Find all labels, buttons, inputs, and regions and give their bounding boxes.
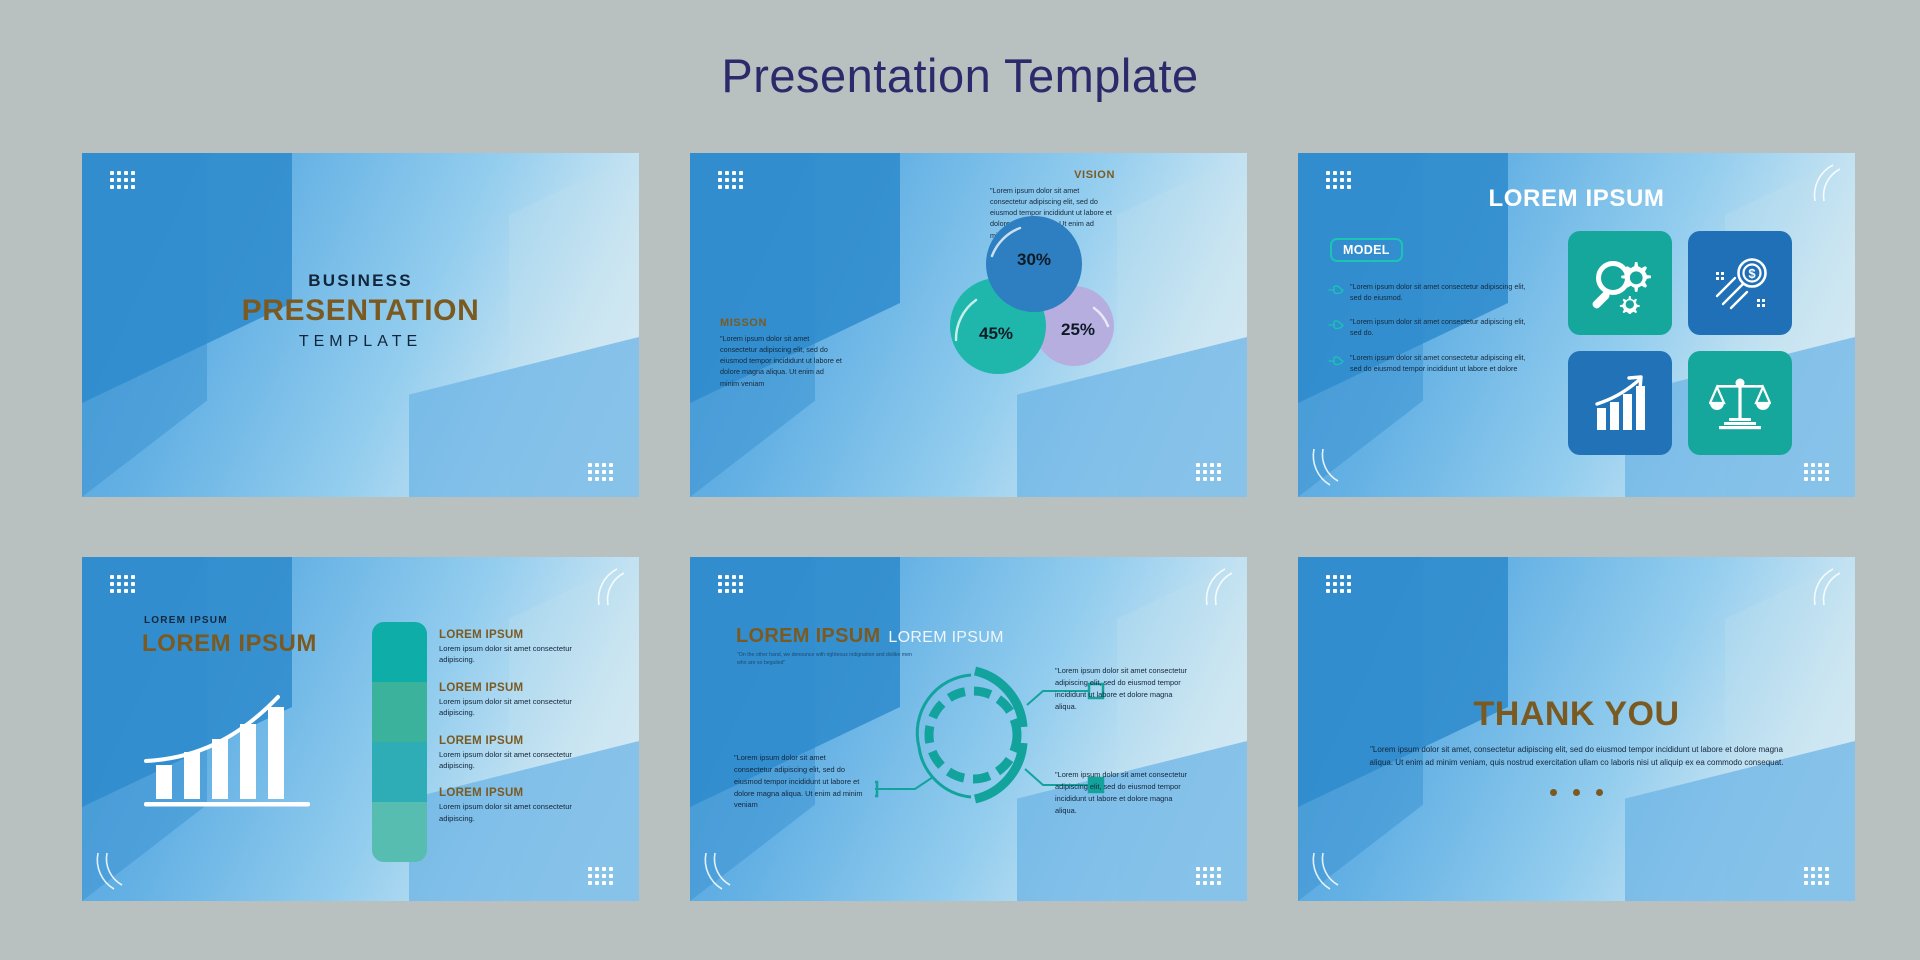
slide-heading: THANK YOU (1298, 695, 1855, 734)
list-item-heading: LOREM IPSUM (439, 787, 609, 799)
feature-rows: LOREM IPSUM Lorem ipsum dolor sit amet c… (439, 629, 609, 840)
slide-title-line2: PRESENTATION (82, 294, 639, 328)
tile-money-comet[interactable]: $ (1688, 231, 1792, 335)
list-item-text: "Lorem ipsum dolor sit amet consectetur … (1350, 352, 1528, 374)
pointing-hand-icon (1328, 318, 1344, 338)
slides-grid: BUSINESS PRESENTATION TEMPLATE VISION "L… (82, 153, 1858, 901)
icon-tile-grid: $ (1568, 231, 1792, 455)
ellipsis-dots (1298, 789, 1855, 796)
vision-heading: VISION (990, 169, 1115, 181)
tile-growth-chart[interactable] (1568, 351, 1672, 455)
slide-growth[interactable]: LOREM IPSUM LOREM IPSUM (82, 557, 639, 901)
dot-grid-icon (1326, 575, 1351, 593)
slide-model[interactable]: LOREM IPSUM MODEL "Lorem ipsum dolor sit… (1298, 153, 1855, 497)
venn-diagram: 25% 45% 30% (942, 216, 1122, 396)
page-title: Presentation Template (0, 48, 1920, 103)
callout-text: "Lorem ipsum dolor sit amet consectetur … (1055, 769, 1195, 816)
pointing-hand-icon (1328, 354, 1344, 374)
slide-heading-bold: LOREM IPSUM (736, 625, 880, 648)
dot-grid-icon (1196, 463, 1221, 481)
dot-grid-icon (588, 463, 613, 481)
slide-body: "Lorem ipsum dolor sit amet, consectetur… (1368, 743, 1785, 769)
slide-heading-row: LOREM IPSUM LOREM IPSUM (736, 625, 1004, 648)
slide-ring-diagram[interactable]: LOREM IPSUM LOREM IPSUM "On the other ha… (690, 557, 1247, 901)
growth-bar-chart-icon (1589, 372, 1651, 434)
dot-grid-icon (110, 171, 135, 189)
slide-title-block: BUSINESS PRESENTATION TEMPLATE (82, 271, 639, 351)
dot-grid-icon (718, 575, 743, 593)
list-item-heading: LOREM IPSUM (439, 629, 609, 641)
dot-grid-icon (588, 867, 613, 885)
slide-vision-mission[interactable]: VISION "Lorem ipsum dolor sit amet conse… (690, 153, 1247, 497)
dot-grid-icon (110, 575, 135, 593)
bullet-list: "Lorem ipsum dolor sit amet consectetur … (1328, 281, 1528, 387)
money-comet-icon: $ (1709, 252, 1771, 314)
callout-text: "Lorem ipsum dolor sit amet consectetur … (1055, 665, 1195, 712)
list-item-text: Lorem ipsum dolor sit amet consectetur a… (439, 696, 609, 719)
slide-heading: LOREM IPSUM (1298, 185, 1855, 213)
list-item: "Lorem ipsum dolor sit amet consectetur … (1328, 281, 1528, 303)
list-item: "Lorem ipsum dolor sit amet consectetur … (1328, 352, 1528, 374)
slide-title-line1: BUSINESS (82, 271, 639, 291)
presentation-template-page: Presentation Template BUSINESS PRESENTAT… (0, 0, 1920, 960)
venn-gloss-icon (942, 216, 1122, 396)
callout-text: "Lorem ipsum dolor sit amet consectetur … (734, 752, 864, 811)
slide-title[interactable]: BUSINESS PRESENTATION TEMPLATE (82, 153, 639, 497)
tile-scales[interactable] (1688, 351, 1792, 455)
dot-grid-icon (1804, 463, 1829, 481)
mission-heading: MISSON (720, 317, 845, 329)
list-item: LOREM IPSUM Lorem ipsum dolor sit amet c… (439, 735, 609, 772)
list-item-heading: LOREM IPSUM (439, 682, 609, 694)
list-item-text: Lorem ipsum dolor sit amet consectetur a… (439, 643, 609, 666)
pointing-hand-icon (1328, 283, 1344, 303)
color-strip (372, 622, 427, 862)
magnifier-gear-icon (1589, 252, 1651, 314)
slide-heading: LOREM IPSUM (142, 630, 317, 658)
list-item: LOREM IPSUM Lorem ipsum dolor sit amet c… (439, 629, 609, 666)
strip-segment (372, 802, 427, 862)
list-item-heading: LOREM IPSUM (439, 735, 609, 747)
strip-segment (372, 622, 427, 682)
scales-balance-icon (1709, 372, 1771, 434)
dot-grid-icon (1804, 867, 1829, 885)
callout-bottom-right: "Lorem ipsum dolor sit amet consectetur … (1055, 769, 1195, 816)
growth-chart-illustration (144, 689, 334, 814)
strip-segment (372, 682, 427, 742)
dot-grid-icon (1196, 867, 1221, 885)
callout-top-right: "Lorem ipsum dolor sit amet consectetur … (1055, 665, 1195, 712)
slide-heading-light: LOREM IPSUM (888, 629, 1003, 647)
list-item-text: "Lorem ipsum dolor sit amet consectetur … (1350, 316, 1528, 338)
tile-magnifier-gear[interactable] (1568, 231, 1672, 335)
slide-title-line3: TEMPLATE (82, 333, 639, 351)
list-item: LOREM IPSUM Lorem ipsum dolor sit amet c… (439, 682, 609, 719)
model-badge[interactable]: MODEL (1330, 238, 1403, 262)
slide-thank-you[interactable]: THANK YOU "Lorem ipsum dolor sit amet, c… (1298, 557, 1855, 901)
dot-grid-icon (718, 171, 743, 189)
callout-left: "Lorem ipsum dolor sit amet consectetur … (734, 752, 864, 811)
list-item: LOREM IPSUM Lorem ipsum dolor sit amet c… (439, 787, 609, 824)
mission-block: MISSON "Lorem ipsum dolor sit amet conse… (720, 317, 845, 389)
list-item-text: Lorem ipsum dolor sit amet consectetur a… (439, 801, 609, 824)
svg-text:$: $ (1748, 266, 1756, 281)
list-item-text: "Lorem ipsum dolor sit amet consectetur … (1350, 281, 1528, 303)
strip-segment (372, 742, 427, 802)
list-item-text: Lorem ipsum dolor sit amet consectetur a… (439, 749, 609, 772)
list-item: "Lorem ipsum dolor sit amet consectetur … (1328, 316, 1528, 338)
slide-kicker: LOREM IPSUM (144, 615, 228, 626)
mission-body: "Lorem ipsum dolor sit amet consectetur … (720, 333, 845, 389)
